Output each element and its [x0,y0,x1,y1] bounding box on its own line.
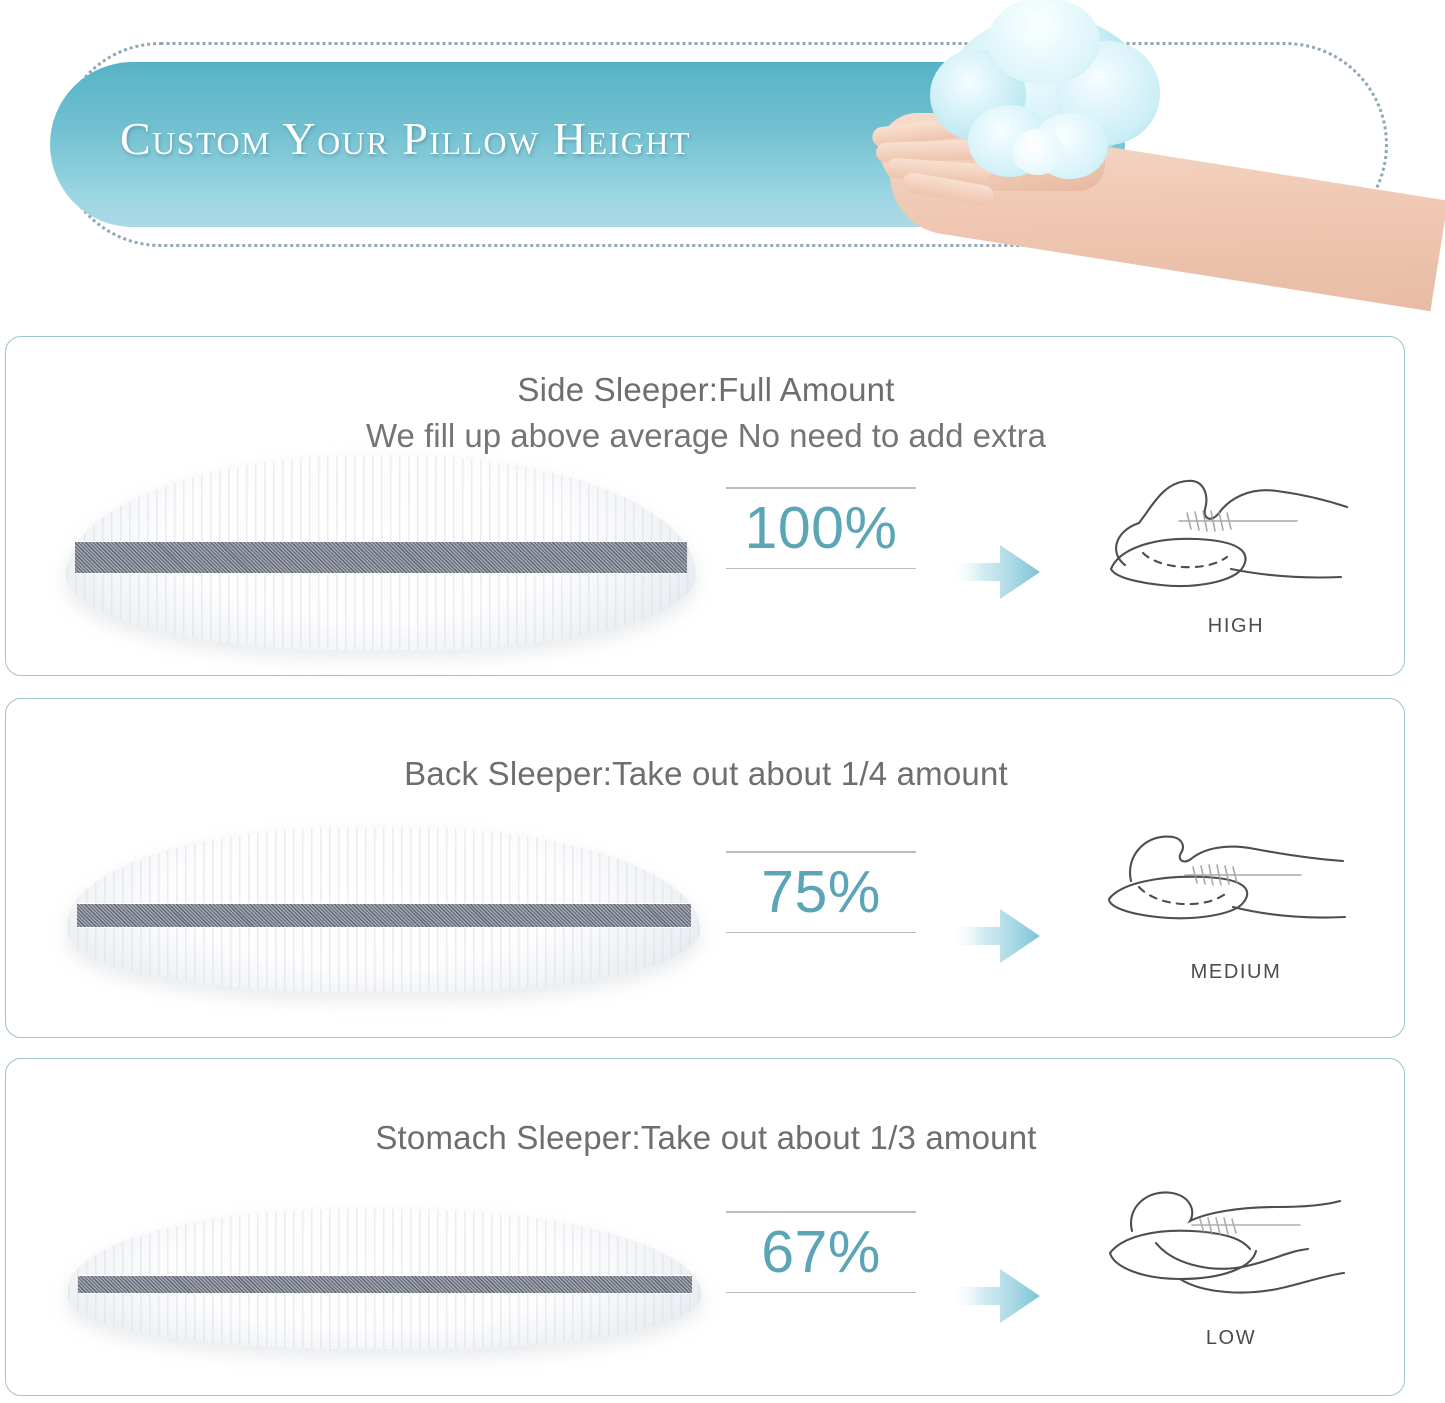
divider-bottom [726,568,916,570]
side-sleeper-posture-icon [1101,457,1371,632]
percent-value: 67% [696,1213,946,1292]
sleeper-card-stomach: Stomach Sleeper:Take out about 1/3 amoun… [5,1058,1405,1396]
pillow-medium-loft-icon [68,827,700,992]
sleeper-card-side: Side Sleeper:Full Amount We fill up abov… [5,336,1405,676]
arrow-right-icon [946,905,1042,967]
firmness-label: MEDIUM [1101,961,1371,984]
card-subheading: We fill up above average No need to add … [6,417,1406,455]
percent-value: 75% [696,853,946,932]
card-heading: Stomach Sleeper:Take out about 1/3 amoun… [6,1119,1406,1157]
shredded-foam-clump-icon [928,0,1163,182]
fill-percent-block: 67% [696,1211,946,1293]
arrow-right-icon [946,1265,1042,1327]
firmness-label: HIGH [1101,615,1371,638]
card-heading: Back Sleeper:Take out about 1/4 amount [6,755,1406,793]
sleeper-card-back: Back Sleeper:Take out about 1/4 amount 7… [5,698,1405,1038]
fill-percent-block: 75% [696,851,946,933]
percent-value: 100% [696,489,946,568]
card-heading: Side Sleeper:Full Amount [6,371,1406,409]
pillow-high-loft-icon [66,455,696,650]
fill-percent-block: 100% [696,487,946,569]
divider-bottom [726,1292,916,1294]
arrow-right-icon [946,541,1042,603]
hand-holding-foam-image [880,0,1445,335]
header-banner-section: Custom Your Pillow Height [0,0,1445,330]
divider-bottom [726,932,916,934]
firmness-label: LOW [1096,1327,1366,1350]
pillow-low-loft-icon [68,1209,702,1349]
page-title: Custom Your Pillow Height [120,112,920,165]
